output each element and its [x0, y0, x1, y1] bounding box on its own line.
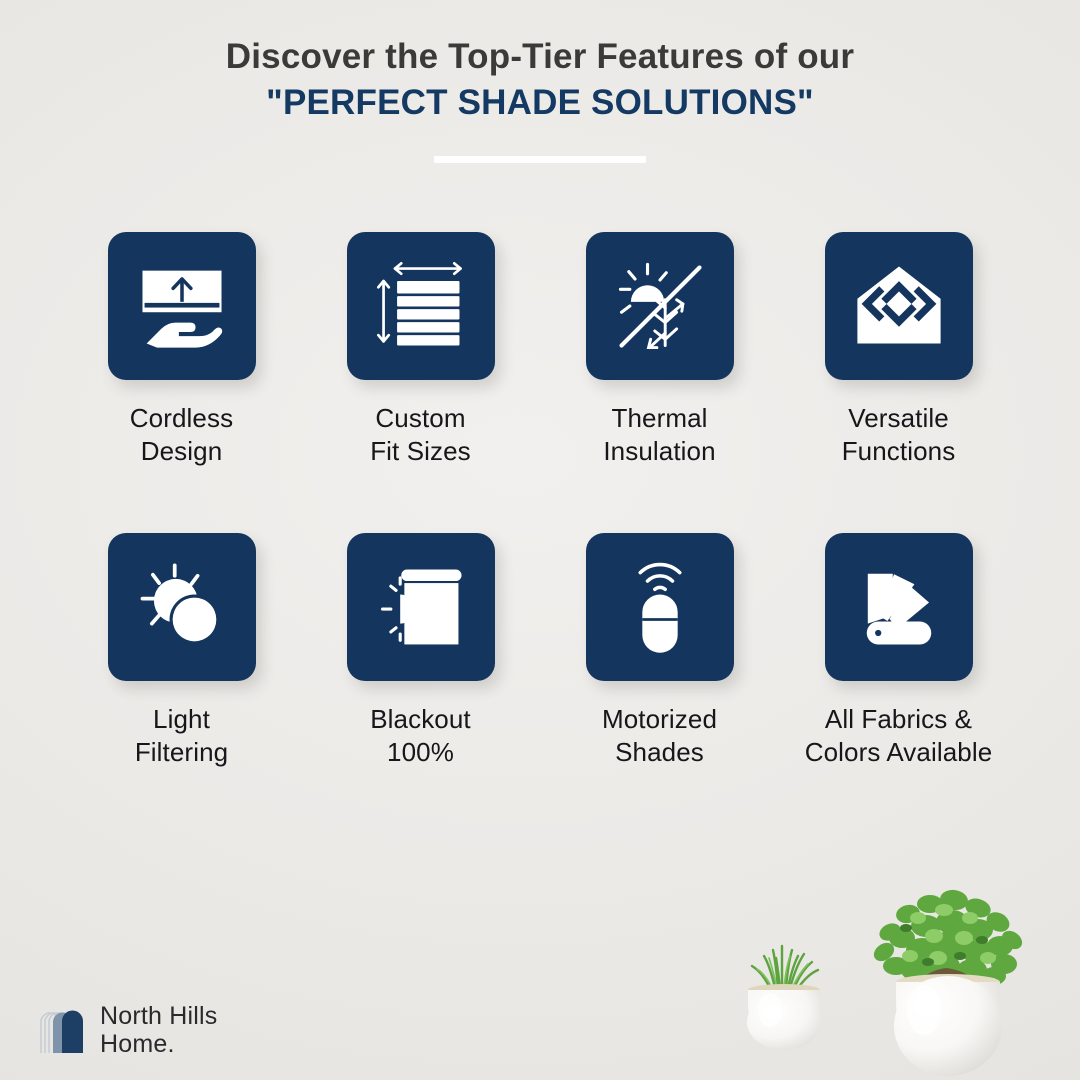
plant-large: [870, 888, 1025, 1076]
features-grid: Cordless Design: [0, 232, 1080, 769]
feature-label: Custom Fit Sizes: [370, 402, 471, 469]
feature-label: Cordless Design: [130, 402, 233, 469]
color-swatch-fan-icon: [847, 555, 951, 659]
feature-tile: [108, 232, 256, 380]
potted-plants-decoration: [720, 870, 1080, 1080]
feature-item-light-filtering[interactable]: Light Filtering: [62, 533, 301, 770]
feature-item-motorized-shades[interactable]: Motorized Shades: [540, 533, 779, 770]
feature-tile: [825, 533, 973, 681]
house-diamond-icon: [847, 254, 951, 358]
feature-label: Thermal Insulation: [603, 402, 715, 469]
feature-label: Light Filtering: [135, 703, 228, 770]
potted-plants-photo: [720, 870, 1080, 1080]
remote-wifi-icon: [608, 555, 712, 659]
measure-blind-arrows-icon: [369, 254, 473, 358]
feature-label: All Fabrics & Colors Available: [805, 703, 993, 770]
feature-label: Versatile Functions: [842, 402, 956, 469]
title-divider: [434, 156, 646, 163]
sun-eclipse-icon: [130, 555, 234, 659]
feature-label: Blackout 100%: [370, 703, 471, 770]
sun-snowflake-icon: [608, 254, 712, 358]
page-title-line2: "PERFECT SHADE SOLUTIONS": [0, 81, 1080, 126]
feature-tile: [347, 533, 495, 681]
feature-tile: [108, 533, 256, 681]
cordless-shade-hand-icon: [130, 254, 234, 358]
feature-tile: [586, 533, 734, 681]
logo-text-line2: Home.: [100, 1030, 218, 1058]
feature-item-cordless-design[interactable]: Cordless Design: [62, 232, 301, 469]
plant-small: [747, 946, 821, 1050]
logo-text: North Hills Home.: [100, 1002, 218, 1058]
page-title-line1: Discover the Top-Tier Features of our: [0, 36, 1080, 79]
feature-tile: [347, 232, 495, 380]
feature-item-fabrics-colors[interactable]: All Fabrics & Colors Available: [779, 533, 1018, 770]
feature-item-custom-fit-sizes[interactable]: Custom Fit Sizes: [301, 232, 540, 469]
feature-item-thermal-insulation[interactable]: Thermal Insulation: [540, 232, 779, 469]
feature-item-versatile-functions[interactable]: Versatile Functions: [779, 232, 1018, 469]
arch-window-logo-icon: [38, 1006, 88, 1054]
header: Discover the Top-Tier Features of our "P…: [0, 0, 1080, 163]
logo-text-line1: North Hills: [100, 1002, 218, 1030]
feature-item-blackout[interactable]: Blackout 100%: [301, 533, 540, 770]
brand-logo[interactable]: North Hills Home.: [38, 1002, 218, 1058]
feature-tile: [586, 232, 734, 380]
roller-shade-moon-icon: [369, 555, 473, 659]
feature-label: Motorized Shades: [602, 703, 717, 770]
feature-tile: [825, 232, 973, 380]
